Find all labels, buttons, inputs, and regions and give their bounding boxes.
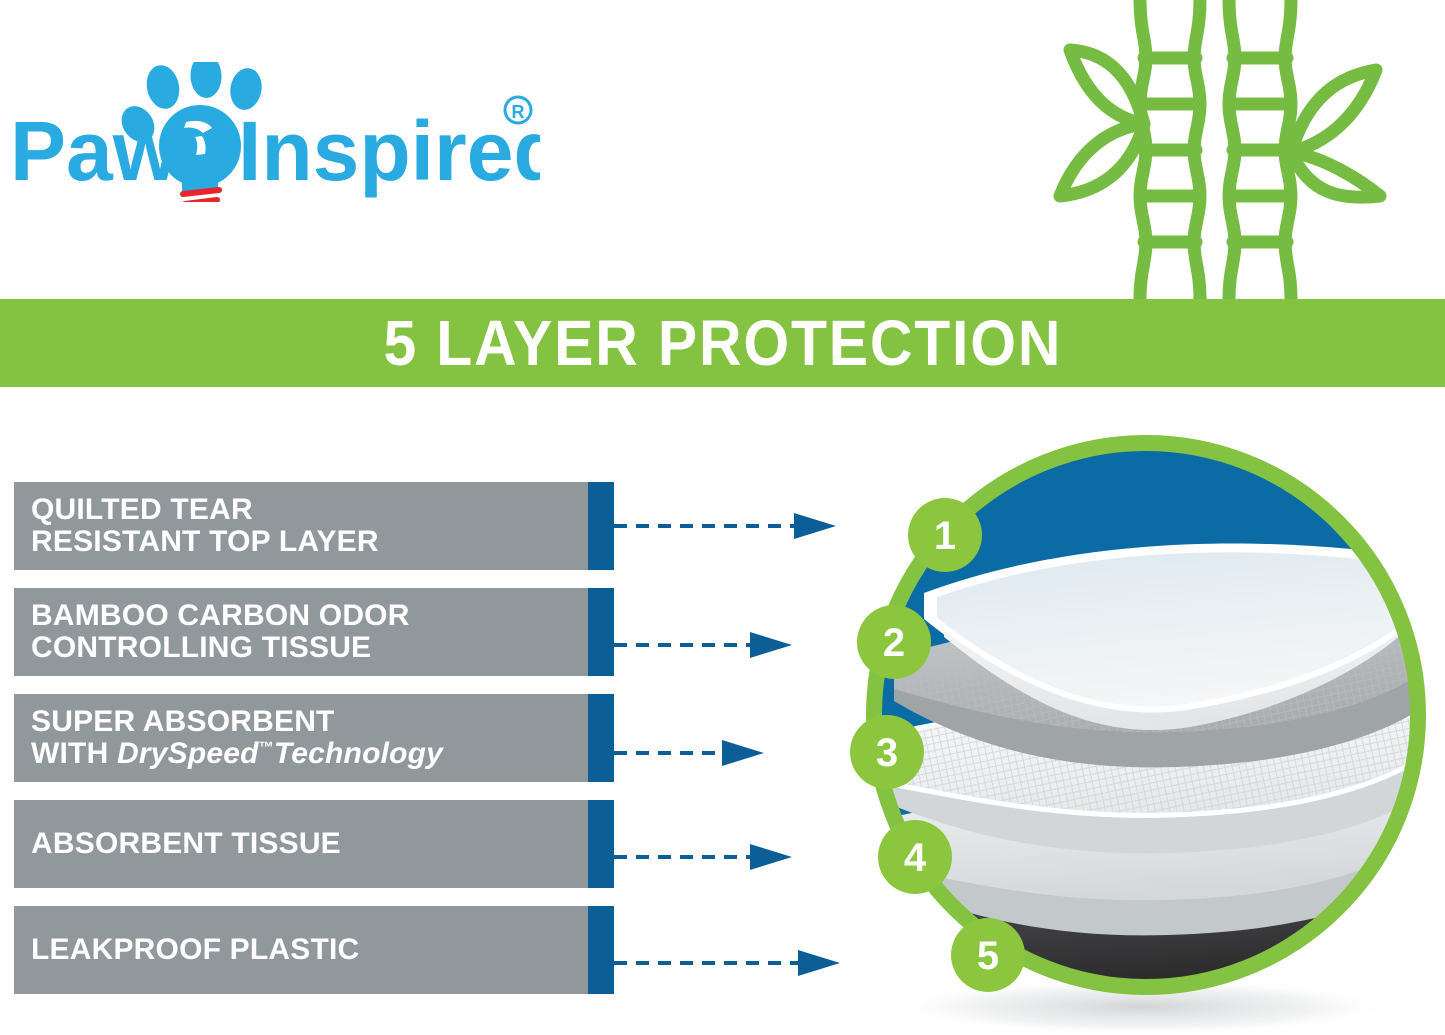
- layer-label-line1: BAMBOO CARBON ODOR: [31, 599, 410, 632]
- layer-label-list: QUILTED TEAR RESISTANT TOP LAYER BAMBOO …: [0, 400, 880, 1000]
- badge-3[interactable]: 3: [850, 715, 924, 789]
- paw-lightbulb-icon: Paw Inspired R: [10, 62, 540, 202]
- badge-3-label: 3: [876, 731, 898, 775]
- brand-word-two: Inspired: [238, 104, 540, 198]
- svg-text:R: R: [512, 102, 525, 122]
- bar-blue-cap: [588, 694, 614, 782]
- layer-label-line2: WITH: [31, 737, 117, 770]
- bar-blue-cap: [588, 800, 614, 888]
- layer-label: LEAKPROOF PLASTIC: [14, 934, 359, 966]
- layer-label-line1: QUILTED TEAR: [31, 493, 253, 526]
- exploded-layers-illustration: 1 2 3 4 5: [846, 415, 1445, 1035]
- layer-label-line1: LEAKPROOF PLASTIC: [31, 933, 359, 966]
- connector-arrow-2: [614, 632, 804, 658]
- connector-arrow-3: [614, 740, 774, 766]
- badge-2-label: 2: [883, 621, 905, 665]
- layer-label: QUILTED TEAR RESISTANT TOP LAYER: [14, 494, 379, 558]
- header: Paw Inspired R: [0, 0, 1445, 300]
- layer-bar[interactable]: QUILTED TEAR RESISTANT TOP LAYER: [14, 482, 614, 570]
- banner: 5 LAYER PROTECTION: [0, 299, 1445, 387]
- layer-bar[interactable]: ABSORBENT TISSUE: [14, 800, 614, 888]
- layer-label-line1: ABSORBENT TISSUE: [31, 827, 341, 860]
- layer-bar[interactable]: SUPER ABSORBENT WITH DrySpeed™Technology: [14, 694, 614, 782]
- connector-arrow-5: [614, 950, 854, 976]
- connector-arrow-4: [614, 844, 804, 870]
- badge-5[interactable]: 5: [951, 918, 1025, 992]
- brand-word-one: Paw: [10, 104, 179, 198]
- bar-blue-cap: [588, 588, 614, 676]
- banner-title: 5 LAYER PROTECTION: [383, 311, 1062, 375]
- badge-4[interactable]: 4: [878, 820, 952, 894]
- connector-arrow-1: [614, 513, 844, 539]
- layer-label-line1: SUPER ABSORBENT: [31, 705, 335, 738]
- layer-label: BAMBOO CARBON ODOR CONTROLLING TISSUE: [14, 600, 410, 664]
- trademark-symbol: ™: [259, 739, 274, 756]
- bar-blue-cap: [588, 906, 614, 994]
- bamboo-stalks-icon: [1010, 0, 1440, 300]
- brand-logo[interactable]: Paw Inspired R: [10, 62, 540, 202]
- badge-5-label: 5: [977, 934, 999, 978]
- layer-label: ABSORBENT TISSUE: [14, 828, 341, 860]
- badge-1[interactable]: 1: [908, 498, 982, 572]
- technology-word: Technology: [274, 737, 443, 770]
- badge-2[interactable]: 2: [857, 605, 931, 679]
- bamboo-decoration: [1010, 0, 1440, 300]
- layer-label: SUPER ABSORBENT WITH DrySpeed™Technology: [14, 706, 443, 770]
- bar-blue-cap: [588, 482, 614, 570]
- layer-label-line2: CONTROLLING TISSUE: [31, 631, 371, 664]
- layer-label-line2: RESISTANT TOP LAYER: [31, 525, 379, 558]
- dryspeed-brand: DrySpeed: [117, 737, 259, 770]
- layer-bar[interactable]: BAMBOO CARBON ODOR CONTROLLING TISSUE: [14, 588, 614, 676]
- badge-1-label: 1: [934, 514, 956, 558]
- badge-4-label: 4: [904, 836, 927, 880]
- layer-stack-diagram: 1 2 3 4 5: [846, 415, 1445, 1035]
- layer-stack: [848, 543, 1445, 1035]
- layer-bar[interactable]: LEAKPROOF PLASTIC: [14, 906, 614, 994]
